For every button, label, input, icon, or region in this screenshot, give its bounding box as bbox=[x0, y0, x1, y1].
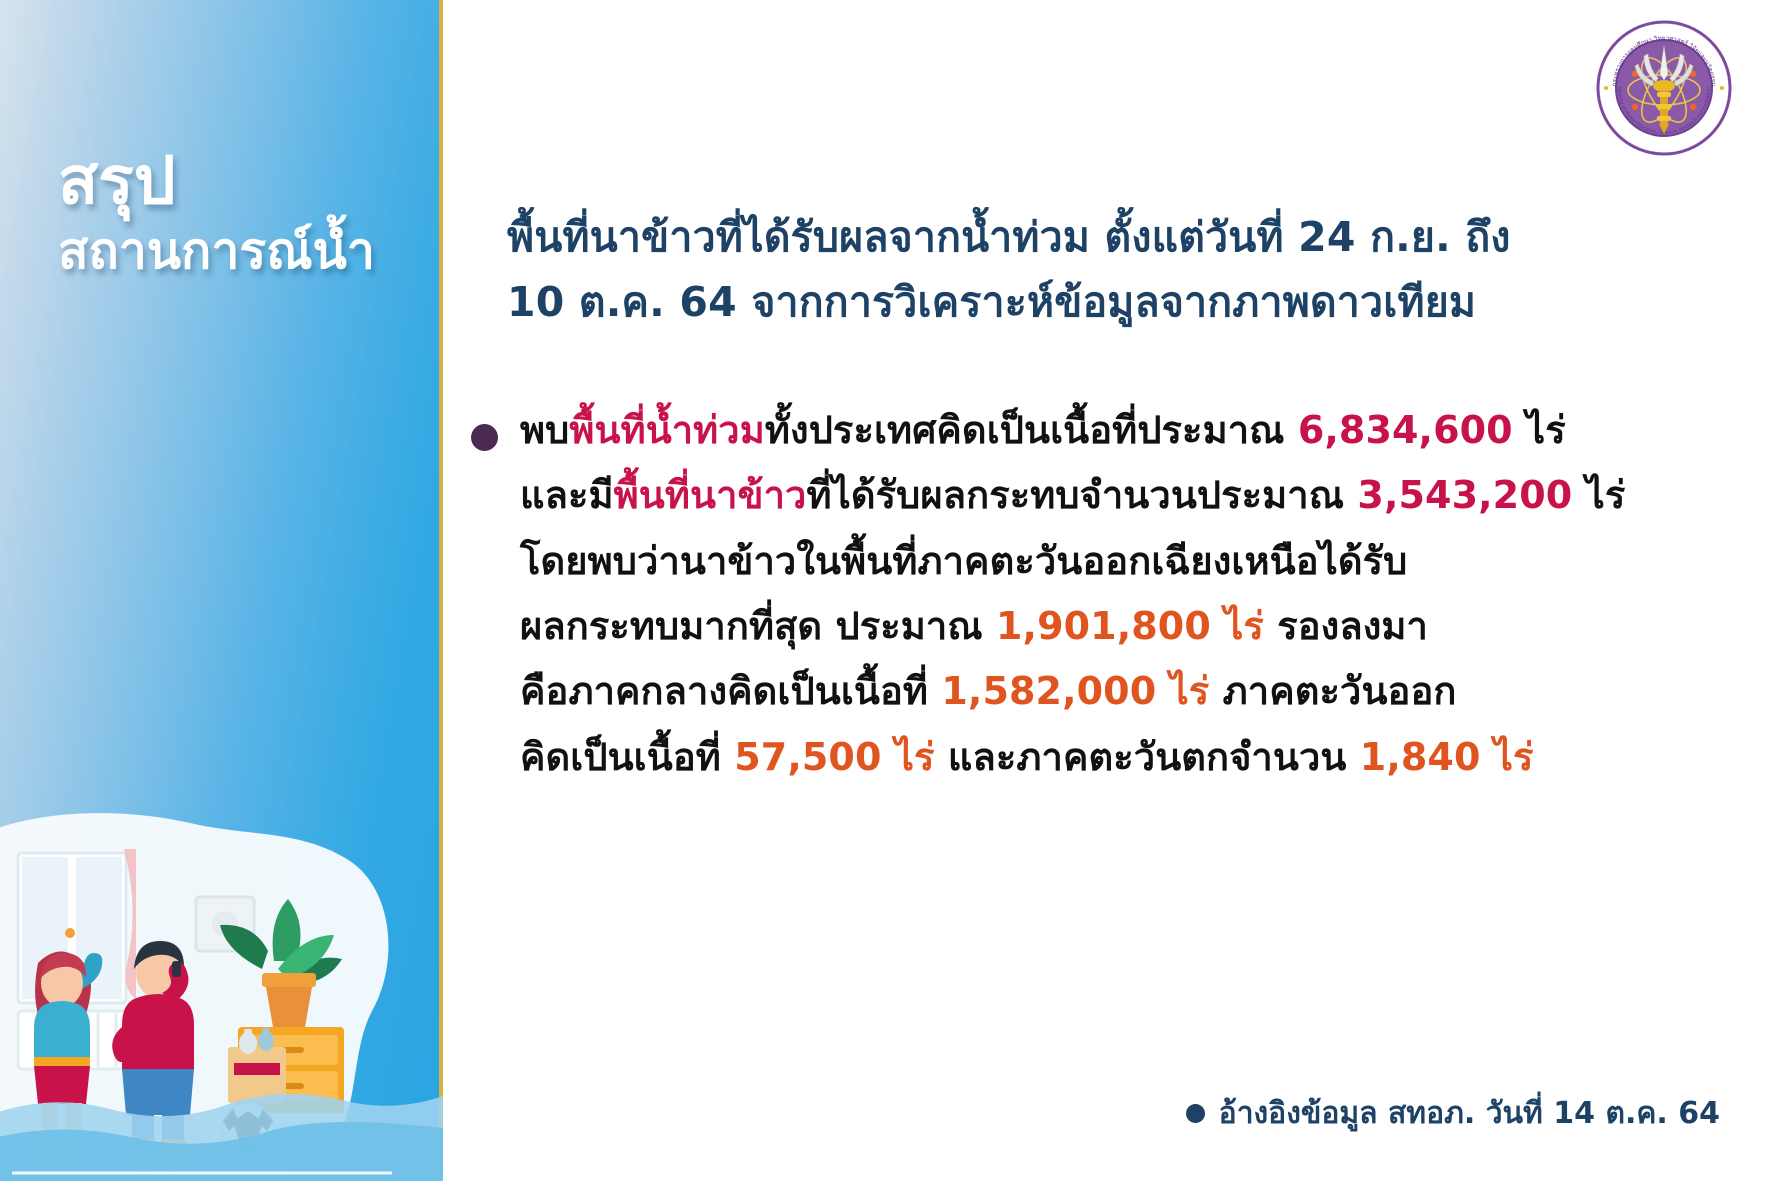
body-l2-e: ไร่ bbox=[1572, 473, 1625, 517]
panel-title-line1: สรุป bbox=[58, 148, 375, 214]
body-l4-value-northeast: 1,901,800 ไร่ bbox=[996, 604, 1264, 648]
body-l1-value-total-flood: 6,834,600 bbox=[1298, 408, 1513, 452]
heading-line-1: พื้นที่นาข้าวที่ได้รับผลจากน้ำท่วม ตั้งแ… bbox=[507, 205, 1687, 270]
body-l4-a: ผลกระทบมากที่สุด ประมาณ bbox=[520, 604, 996, 648]
body-l2-a: และมี bbox=[520, 473, 614, 517]
body-line-4: ผลกระทบมากที่สุด ประมาณ 1,901,800 ไร่ รอ… bbox=[520, 594, 1755, 659]
body-l6-value-west: 1,840 ไร่ bbox=[1360, 735, 1534, 779]
body-l5-c: ภาคตะวันออก bbox=[1209, 669, 1456, 713]
body-l4-c: รองลงมา bbox=[1264, 604, 1428, 648]
source-reference-text: อ้างอิงข้อมูล สทอภ. วันที่ 14 ต.ค. 64 bbox=[1219, 1090, 1720, 1137]
body-l3-a: โดยพบว่านาข้าวในพื้นที่ภาคตะวันออกเฉียงเ… bbox=[520, 539, 1407, 583]
main-content: พื้นที่นาข้าวที่ได้รับผลจากน้ำท่วม ตั้งแ… bbox=[443, 0, 1772, 1181]
body-line-6: คิดเป็นเนื้อที่ 57,500 ไร่ และภาคตะวันตก… bbox=[520, 725, 1755, 790]
left-blue-panel: สรุป สถานการณ์น้ำ bbox=[0, 0, 443, 1181]
body-l1-highlight-flood-area: พื้นที่น้ำท่วม bbox=[569, 408, 765, 452]
panel-title-line2: สถานการณ์น้ำ bbox=[58, 226, 375, 276]
body-l6-a: คิดเป็นเนื้อที่ bbox=[520, 735, 734, 779]
body-l2-c: ที่ได้รับผลกระทบจำนวนประมาณ bbox=[806, 473, 1357, 517]
body-l6-c: และภาคตะวันตกจำนวน bbox=[935, 735, 1360, 779]
body-l2-highlight-rice-area: พื้นที่นาข้าว bbox=[614, 473, 807, 517]
body-l6-value-east: 57,500 ไร่ bbox=[734, 735, 934, 779]
body-l5-value-central: 1,582,000 ไร่ bbox=[941, 669, 1209, 713]
summary-bullet-block: พบพื้นที่น้ำท่วมทั้งประเทศคิดเป็นเนื้อที… bbox=[455, 398, 1755, 790]
body-line-3: โดยพบว่านาข้าวในพื้นที่ภาคตะวันออกเฉียงเ… bbox=[520, 529, 1755, 594]
body-line-1: พบพื้นที่น้ำท่วมทั้งประเทศคิดเป็นเนื้อที… bbox=[520, 398, 1755, 463]
summary-body-text: พบพื้นที่น้ำท่วมทั้งประเทศคิดเป็นเนื้อที… bbox=[520, 398, 1755, 790]
ministry-seal-logo: กระทรวงการอุดมศึกษา วิทยาศาสตร์ วิจัยและ… bbox=[1594, 18, 1734, 158]
infographic-poster: สรุป สถานการณ์น้ำ กระทรวงการอุดมศึกษา วิ… bbox=[0, 0, 1772, 1181]
body-l5-a: คือภาคกลางคิดเป็นเนื้อที่ bbox=[520, 669, 941, 713]
source-reference: อ้างอิงข้อมูล สทอภ. วันที่ 14 ต.ค. 64 bbox=[1186, 1090, 1720, 1137]
panel-title: สรุป สถานการณ์น้ำ bbox=[58, 148, 375, 276]
body-line-2: และมีพื้นที่นาข้าวที่ได้รับผลกระทบจำนวนป… bbox=[520, 463, 1755, 528]
footer-bullet-icon bbox=[1186, 1104, 1205, 1123]
bullet-dot-icon bbox=[471, 424, 498, 451]
page-title: พื้นที่นาข้าวที่ได้รับผลจากน้ำท่วม ตั้งแ… bbox=[507, 205, 1687, 335]
body-l1-a: พบ bbox=[520, 408, 569, 452]
body-l1-c: ทั้งประเทศคิดเป็นเนื้อที่ประมาณ bbox=[765, 408, 1298, 452]
body-l1-e: ไร่ bbox=[1513, 408, 1566, 452]
flood-illustration bbox=[0, 711, 443, 1181]
heading-line-2: 10 ต.ค. 64 จากการวิเคราะห์ข้อมูลจากภาพดา… bbox=[507, 270, 1687, 335]
body-l2-value-rice-affected: 3,543,200 bbox=[1357, 473, 1572, 517]
body-line-5: คือภาคกลางคิดเป็นเนื้อที่ 1,582,000 ไร่ … bbox=[520, 659, 1755, 724]
